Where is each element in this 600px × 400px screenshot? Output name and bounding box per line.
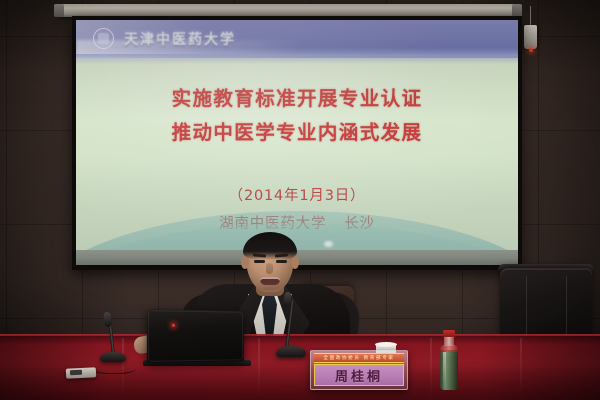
microphone-base xyxy=(100,352,126,362)
bottle-highlight xyxy=(443,352,446,390)
laptop[interactable] xyxy=(147,309,244,363)
presentation-slide: 天津中医药大学 实施教育标准开展专业认证 推动中医学专业内涵式发展 （2014年… xyxy=(76,20,518,265)
cloth-fold xyxy=(520,338,522,400)
slide-title: 实施教育标准开展专业认证 推动中医学专业内涵式发展 xyxy=(76,82,518,150)
water-bottle[interactable] xyxy=(438,330,460,392)
cloth-fold xyxy=(430,338,432,400)
remote-control-display xyxy=(70,370,82,376)
nameplate-name-text: 周桂桐 xyxy=(335,366,383,385)
chair-seam-right xyxy=(566,276,567,340)
microphone-cable xyxy=(92,360,136,374)
university-seal-inner xyxy=(98,33,109,44)
microphone-capsule xyxy=(103,312,112,328)
cloth-fold xyxy=(258,338,260,400)
university-seal-icon xyxy=(93,28,114,49)
nameplate-card: 周桂桐 xyxy=(314,364,404,386)
office-chair xyxy=(500,268,592,342)
slide-header-fade xyxy=(76,54,518,64)
nameplate: 全国政协委员 教育部专家 周桂桐 xyxy=(310,350,408,390)
hanging-fixture xyxy=(524,25,537,49)
face-shading xyxy=(246,268,294,290)
slide-title-line-1: 实施教育标准开展专业认证 xyxy=(76,82,518,116)
nameplate-title-band: 全国政协委员 教育部专家 xyxy=(314,353,404,363)
chair-seam-left xyxy=(526,276,527,340)
roller-end-cap-left xyxy=(54,4,64,17)
laptop-lid-rim xyxy=(148,310,243,362)
microphone-base xyxy=(276,346,306,357)
eye-left xyxy=(254,260,265,263)
photograph: 天津中医药大学 实施教育标准开展专业认证 推动中医学专业内涵式发展 （2014年… xyxy=(0,0,600,400)
eye-right xyxy=(276,260,287,263)
slide-title-line-2: 推动中医学专业内涵式发展 xyxy=(76,116,518,150)
teacup-rim xyxy=(375,342,397,347)
slide-date: （2014年1月3日） xyxy=(76,182,518,210)
hanging-fixture-wire xyxy=(530,6,531,27)
slide-institution-name: 天津中医药大学 xyxy=(124,29,236,49)
nameplate-title-text: 全国政协委员 教育部专家 xyxy=(323,355,394,361)
indicator-led-icon xyxy=(529,48,533,52)
hair xyxy=(243,232,297,260)
